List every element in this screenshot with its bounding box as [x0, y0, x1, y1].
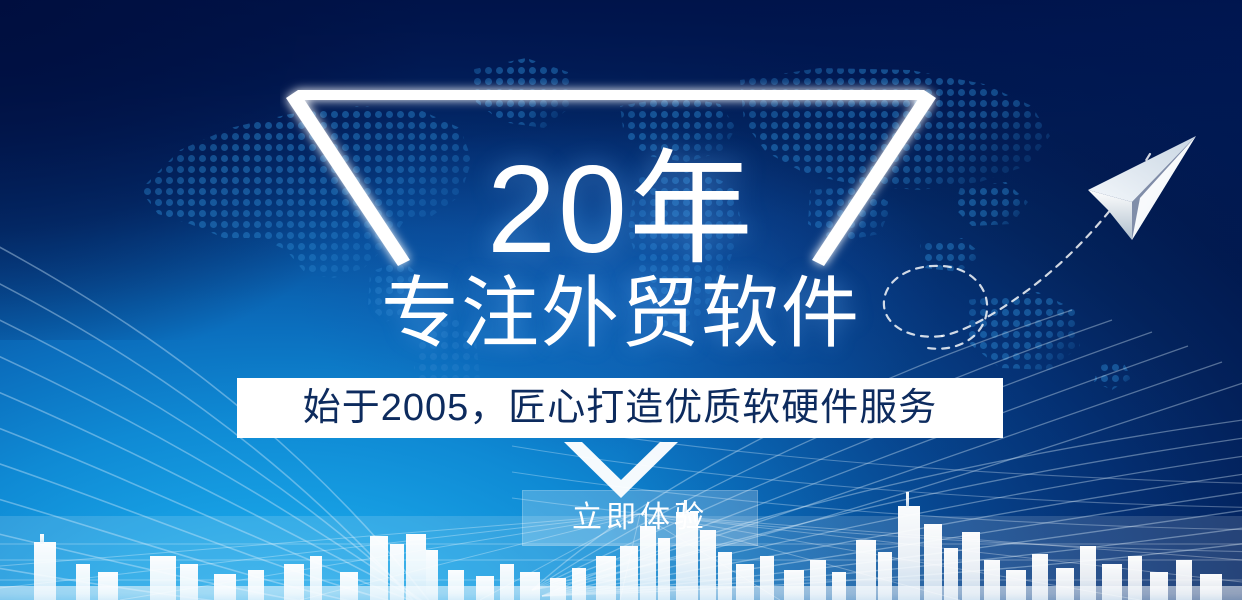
- headline-year: 20年: [0, 148, 1242, 272]
- cta-button[interactable]: 立即体验: [522, 490, 758, 546]
- promo-banner: 20年 专注外贸软件 始于2005，匠心打造优质软硬件服务 立即体验: [0, 0, 1242, 600]
- tagline-bar: 始于2005，匠心打造优质软硬件服务: [237, 378, 1003, 438]
- tagline-text: 始于2005，匠心打造优质软硬件服务: [303, 389, 938, 427]
- headline-subtitle: 专注外贸软件: [0, 274, 1242, 352]
- cta-button-label: 立即体验: [572, 503, 708, 533]
